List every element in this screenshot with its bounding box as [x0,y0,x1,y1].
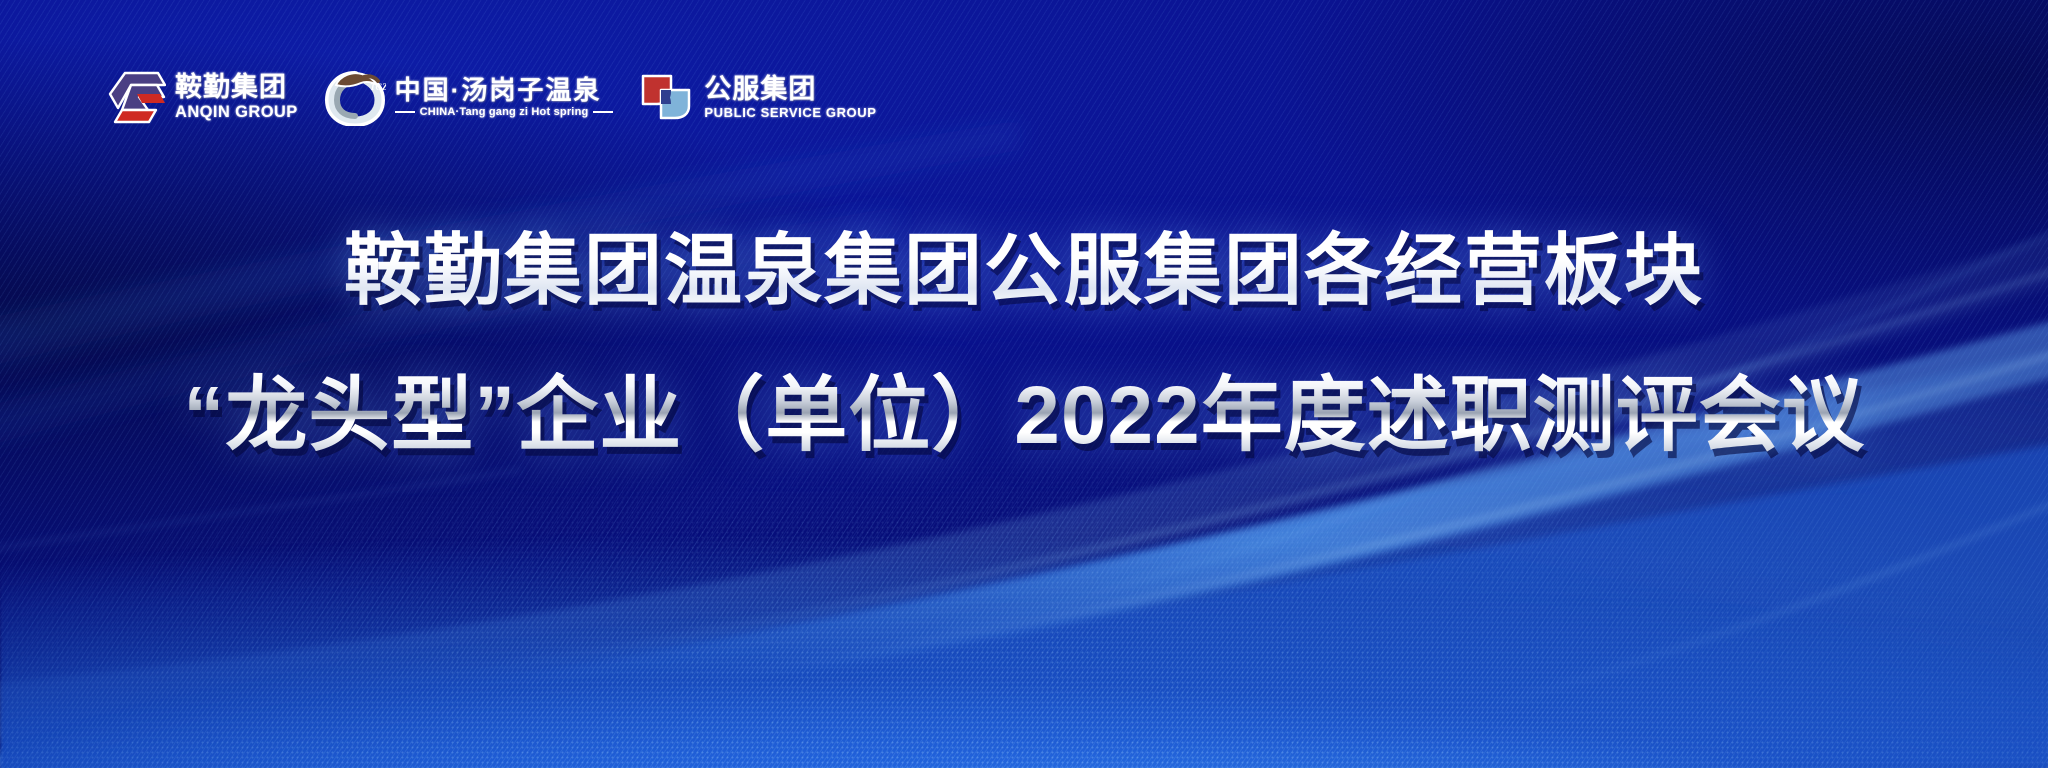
rule-left [395,111,415,113]
logo-spring-en-name: CHINA·Tang gang zi Hot spring [420,107,589,118]
logo-anqin-cn-name: 鞍勤集团 [175,74,298,101]
logo-spring-cn-name: 中国·汤岗子温泉 [395,77,614,103]
title-block: 鞍勤集团温泉集团公服集团各经营板块 “龙头型”企业（单位）2022年度述职测评会… [0,228,2048,461]
logo-public-service-group: 公服集团 PUBLIC SERVICE GROUP [639,70,876,124]
logo-row: 鞍勤集团 ANQIN GROUP TGZ 中国·汤岗子温泉 CHINA·Tang… [104,68,877,126]
banner-title-line-1: 鞍勤集团温泉集团公服集团各经营板块 [0,228,2048,312]
logo-anqin-text: 鞍勤集团 ANQIN GROUP [175,74,298,121]
hot-spring-ring-icon: TGZ [324,68,386,126]
logo-tanggangzi-hot-spring: TGZ 中国·汤岗子温泉 CHINA·Tang gang zi Hot spri… [324,68,614,126]
logo-anqin-group: 鞍勤集团 ANQIN GROUP [104,70,298,124]
public-service-blocks-icon [639,70,695,124]
logo-public-en-name: PUBLIC SERVICE GROUP [704,106,876,119]
logo-spring-text: 中国·汤岗子温泉 CHINA·Tang gang zi Hot spring [395,77,614,118]
anqin-a-mark-icon [104,70,166,124]
logo-public-text: 公服集团 PUBLIC SERVICE GROUP [704,76,876,119]
logo-spring-rule: CHINA·Tang gang zi Hot spring [395,107,614,118]
banner-title-line-2: “龙头型”企业（单位）2022年度述职测评会议 [0,372,2048,461]
logo-anqin-en-name: ANQIN GROUP [175,104,298,121]
logo-public-cn-name: 公服集团 [704,76,876,103]
banner-canvas: 鞍勤集团 ANQIN GROUP TGZ 中国·汤岗子温泉 CHINA·Tang… [0,0,2048,768]
rule-right [593,111,613,113]
svg-text:TGZ: TGZ [370,82,386,92]
